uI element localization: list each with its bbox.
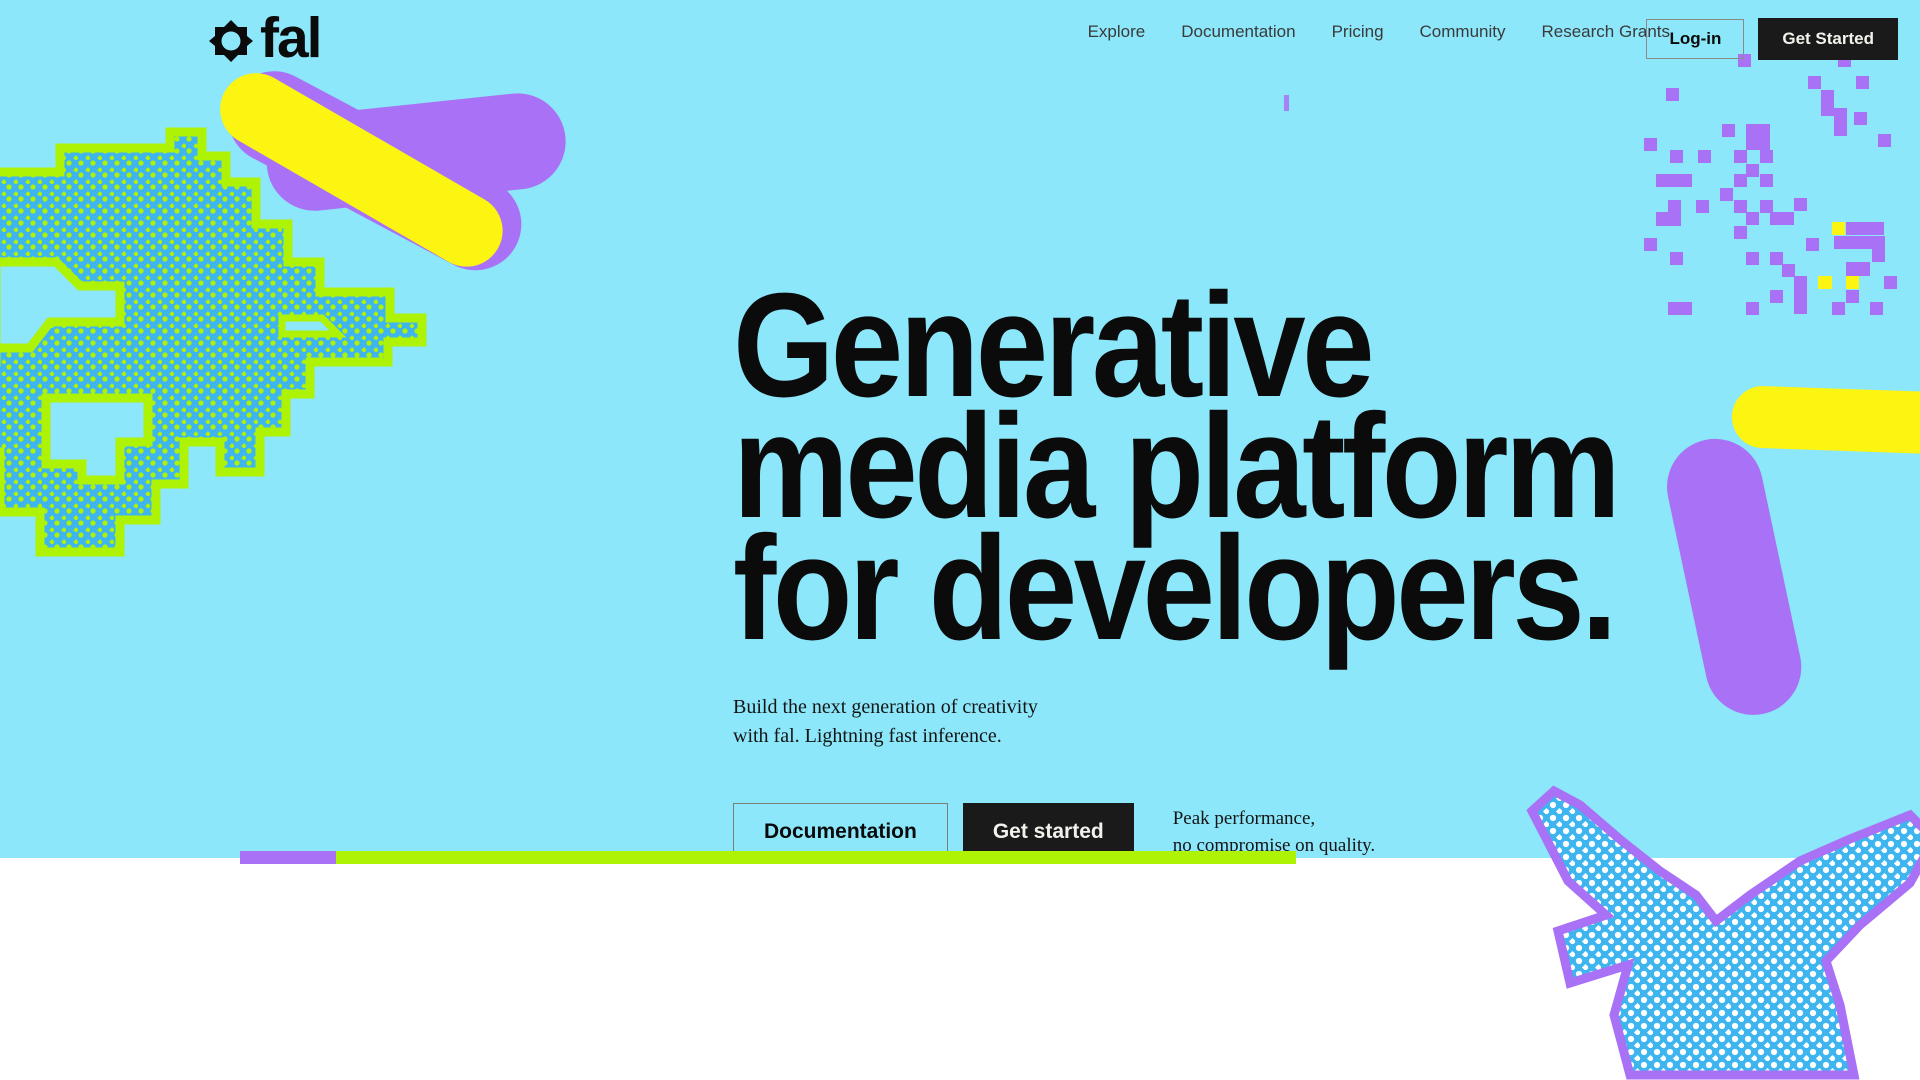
fal-octagon-logo-icon	[208, 18, 254, 64]
progress-segment-purple	[240, 851, 336, 864]
nav-links: Explore Documentation Pricing Community …	[1070, 22, 1688, 42]
progress-bar[interactable]	[0, 851, 1920, 864]
brand-wordmark: fal	[260, 10, 321, 67]
hero-content: Generative media platform for developers…	[733, 285, 1683, 861]
login-button[interactable]: Log-in	[1646, 19, 1744, 59]
headline-line-3: for developers.	[733, 528, 1569, 649]
top-navigation-bar: fal Explore Documentation Pricing Commun…	[0, 0, 1920, 78]
subtitle-line-2: with fal. Lightning fast inference.	[733, 722, 1683, 751]
decor-tiny-pixel-mark	[1284, 95, 1289, 111]
progress-segment-lime	[336, 851, 1296, 864]
decor-pixel-scatter-right	[1630, 50, 1910, 315]
nav-link-documentation[interactable]: Documentation	[1163, 22, 1313, 42]
nav-link-community[interactable]: Community	[1402, 22, 1524, 42]
cta-note-line-1: Peak performance,	[1173, 805, 1375, 833]
nav-link-explore[interactable]: Explore	[1070, 22, 1164, 42]
page-title: Generative media platform for developers…	[733, 285, 1569, 649]
decor-bar-yellow-right	[1731, 385, 1920, 458]
nav-link-pricing[interactable]: Pricing	[1314, 22, 1402, 42]
halftone-creature-left-icon	[0, 112, 460, 572]
hero-subtitle: Build the next generation of creativity …	[733, 693, 1683, 751]
brand-logo[interactable]: fal	[208, 14, 321, 67]
subtitle-line-1: Build the next generation of creativity	[733, 693, 1683, 722]
get-started-nav-button[interactable]: Get Started	[1758, 18, 1898, 60]
page-root: lightning fast infe fal Explore Docume	[0, 0, 1920, 1080]
nav-actions: Log-in Get Started	[1646, 18, 1898, 60]
